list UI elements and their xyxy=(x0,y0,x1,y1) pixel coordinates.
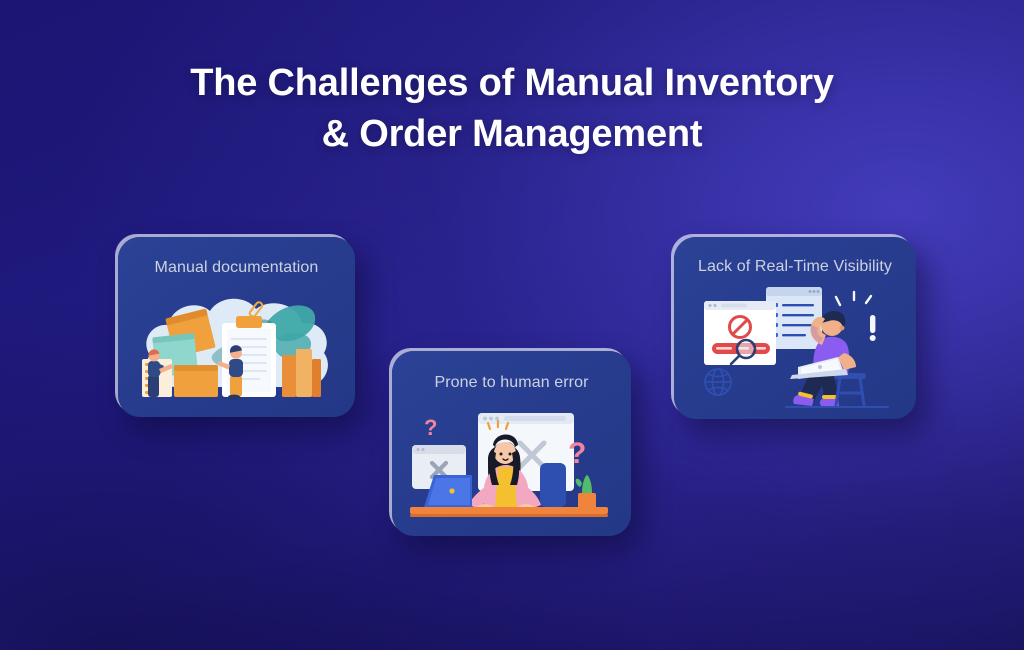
page-title: The Challenges of Manual Inventory & Ord… xyxy=(0,58,1024,161)
card-label: Prone to human error xyxy=(392,374,631,392)
slide-canvas: The Challenges of Manual Inventory & Ord… xyxy=(0,0,1024,650)
human-error-illustration: ? ? xyxy=(392,401,631,527)
card-label: Lack of Real-Time Visibility xyxy=(674,258,916,276)
card-lack-of-real-time-visibility[interactable]: Lack of Real-Time Visibility xyxy=(674,237,916,419)
card-manual-documentation[interactable]: Manual documentation xyxy=(118,237,355,417)
card-prone-to-human-error[interactable]: Prone to human error xyxy=(392,351,631,536)
page-title-line-1: The Challenges of Manual Inventory xyxy=(0,58,1024,109)
real-time-visibility-illustration xyxy=(674,281,916,411)
card-label: Manual documentation xyxy=(118,259,355,277)
page-title-line-2: & Order Management xyxy=(0,109,1024,160)
manual-documentation-illustration xyxy=(118,283,355,407)
svg-text:?: ? xyxy=(424,415,437,440)
svg-text:?: ? xyxy=(568,437,586,470)
